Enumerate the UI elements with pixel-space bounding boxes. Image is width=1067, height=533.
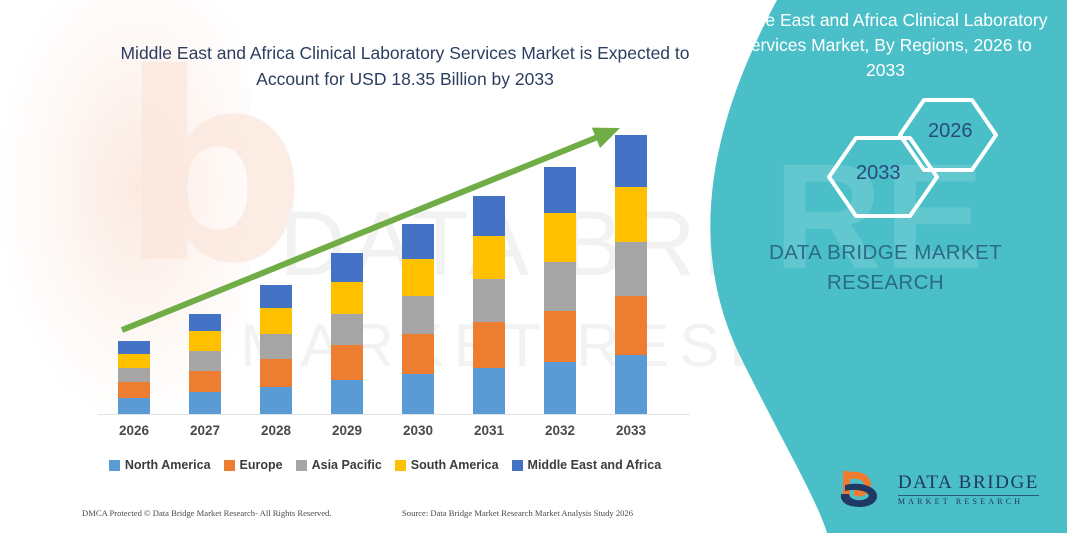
legend-item-asia-pacific[interactable]: Asia Pacific: [296, 458, 382, 472]
bar-2031: [473, 196, 505, 414]
panel-title: Middle East and Africa Clinical Laborato…: [720, 8, 1051, 83]
bar-2030: [402, 224, 434, 414]
bar-segment: [544, 262, 576, 311]
bar-segment: [473, 196, 505, 236]
panel-brand: DATA BRIDGE MARKET RESEARCH: [720, 238, 1051, 298]
bar-segment: [331, 314, 363, 346]
x-label-2030: 2030: [388, 423, 448, 438]
x-label-2033: 2033: [601, 423, 661, 438]
legend-item-europe[interactable]: Europe: [224, 458, 283, 472]
legend-item-north-america[interactable]: North America: [109, 458, 211, 472]
bar-segment: [615, 187, 647, 242]
legend-swatch-icon: [109, 460, 120, 471]
bar-segment: [544, 311, 576, 363]
chart-legend: North AmericaEuropeAsia PacificSouth Ame…: [80, 455, 690, 475]
bar-2027: [189, 314, 221, 414]
bar-segment: [473, 236, 505, 279]
bar-segment: [118, 368, 150, 382]
x-label-2032: 2032: [530, 423, 590, 438]
hexagon-2033-label: 2033: [856, 162, 901, 185]
bar-segment: [260, 285, 292, 308]
x-label-2027: 2027: [175, 423, 235, 438]
bar-segment: [189, 392, 221, 414]
logo-subtitle: MARKET RESEARCH: [898, 498, 1039, 506]
bar-segment: [189, 351, 221, 371]
hexagon-2026-label: 2026: [928, 120, 973, 143]
x-axis-labels: 20262027202820292030203120322033: [80, 423, 690, 443]
bar-segment: [544, 362, 576, 414]
stacked-bar-group: [80, 102, 690, 414]
bar-segment: [331, 380, 363, 414]
bar-segment: [473, 322, 505, 368]
bar-segment: [118, 341, 150, 354]
bar-segment: [615, 242, 647, 297]
panel-brand-line1: DATA BRIDGE MARKET: [769, 241, 1002, 264]
legend-label: Asia Pacific: [312, 458, 382, 472]
hexagon-group: 2026 2033: [820, 96, 1060, 226]
bar-2033: [615, 135, 647, 414]
logo-divider: [898, 495, 1039, 496]
logo-text: DATA BRIDGE MARKET RESEARCH: [898, 473, 1039, 506]
bar-2028: [260, 285, 292, 414]
bar-segment: [615, 135, 647, 187]
legend-item-south-america[interactable]: South America: [395, 458, 499, 472]
legend-item-middle-east-and-africa[interactable]: Middle East and Africa: [512, 458, 662, 472]
infographic-canvas: b DATA BRIDGE MARKET RESEARCH Middle Eas…: [0, 0, 1067, 533]
bar-segment: [260, 334, 292, 360]
chart-title: Middle East and Africa Clinical Laborato…: [120, 40, 690, 92]
bar-segment: [544, 213, 576, 262]
bar-segment: [402, 259, 434, 296]
footer-copyright: DMCA Protected © Data Bridge Market Rese…: [82, 508, 332, 518]
bar-segment: [331, 253, 363, 282]
bar-segment: [402, 374, 434, 414]
bar-2029: [331, 253, 363, 414]
footer: DMCA Protected © Data Bridge Market Rese…: [0, 508, 700, 528]
bar-segment: [402, 296, 434, 333]
data-bridge-logo: DATA BRIDGE MARKET RESEARCH: [837, 467, 1039, 511]
bar-segment: [473, 368, 505, 414]
bar-segment: [118, 382, 150, 398]
bar-segment: [615, 296, 647, 355]
bar-segment: [260, 308, 292, 334]
bar-segment: [331, 282, 363, 314]
legend-label: Middle East and Africa: [528, 458, 662, 472]
teal-panel-content: RE Middle East and Africa Clinical Labor…: [700, 0, 1067, 533]
bar-segment: [118, 398, 150, 414]
bar-segment: [402, 334, 434, 374]
legend-label: South America: [411, 458, 499, 472]
bar-segment: [189, 314, 221, 331]
bar-segment: [473, 279, 505, 322]
panel-brand-line2: RESEARCH: [827, 271, 944, 294]
legend-swatch-icon: [395, 460, 406, 471]
legend-label: North America: [125, 458, 211, 472]
bar-segment: [331, 345, 363, 379]
x-axis-line: [98, 414, 690, 415]
legend-swatch-icon: [224, 460, 235, 471]
bar-segment: [615, 355, 647, 414]
legend-swatch-icon: [512, 460, 523, 471]
x-label-2026: 2026: [104, 423, 164, 438]
bar-segment: [189, 331, 221, 351]
chart-plot-area: [80, 100, 690, 415]
bar-segment: [260, 359, 292, 386]
bar-2032: [544, 167, 576, 414]
x-label-2028: 2028: [246, 423, 306, 438]
x-label-2029: 2029: [317, 423, 377, 438]
bar-segment: [118, 354, 150, 368]
x-label-2031: 2031: [459, 423, 519, 438]
logo-mark-icon: [837, 467, 889, 511]
legend-label: Europe: [240, 458, 283, 472]
bar-2026: [118, 341, 150, 414]
footer-source: Source: Data Bridge Market Research Mark…: [402, 508, 633, 518]
bar-segment: [402, 224, 434, 258]
logo-title: DATA BRIDGE: [898, 473, 1039, 492]
bar-segment: [544, 167, 576, 213]
bar-segment: [260, 387, 292, 414]
bar-segment: [189, 371, 221, 393]
legend-swatch-icon: [296, 460, 307, 471]
